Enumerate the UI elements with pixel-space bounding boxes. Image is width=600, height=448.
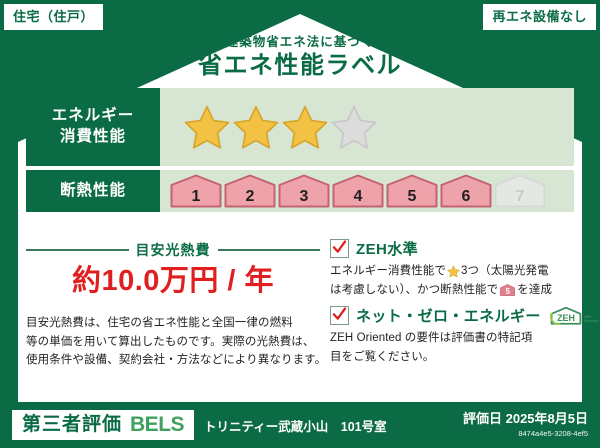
evaluation-date: 評価日 2025年8月5日 — [463, 412, 588, 426]
insulation-badge-number: 5 — [500, 288, 515, 296]
check-body-line1-text2: 3つ（太陽光発電 — [461, 262, 549, 281]
star-icon-empty — [331, 104, 377, 150]
insulation-level-6: 6 — [440, 174, 492, 208]
zeh-house-icon: ZEH — [549, 306, 583, 326]
energy-label-line1: エネルギー — [52, 106, 135, 127]
zeh-logo: ZEH ZEH Oriented — [549, 306, 599, 326]
utility-cost-value: 約10.0万円 / 年 — [26, 266, 320, 298]
utility-cost-section: 目安光熱費 約10.0万円 / 年 目安光熱費は、住宅の省エネ性能と全国一律の燃… — [26, 238, 326, 396]
energy-performance-label: エネルギー 消費性能 — [26, 88, 160, 166]
lower-content: 目安光熱費 約10.0万円 / 年 目安光熱費は、住宅の省エネ性能と全国一律の燃… — [26, 238, 574, 396]
checkbox-net-zero-energy[interactable] — [330, 306, 349, 325]
svg-text:ZEH: ZEH — [557, 313, 575, 323]
check-body-line1: エネルギー消費性能で 3つ（太陽光発電 — [330, 262, 599, 281]
check-icon — [332, 240, 347, 255]
insulation-level-number: 2 — [224, 189, 276, 205]
energy-label-line2: 消費性能 — [60, 127, 126, 148]
utility-cost-note-line-2: 等の単価を用いて算出したものです。実際の光熱費は、 — [26, 333, 320, 352]
check-item-net-zero-energy: ネット・ゼロ・エネルギー ZEH ZEH Oriented ZEH Ori — [330, 305, 599, 366]
energy-performance-value — [160, 88, 574, 166]
insulation-performance-value: 1234567 — [160, 170, 574, 212]
insulation-level-number: 3 — [278, 189, 330, 205]
check-head-zeh-standard: ZEH水準 — [330, 238, 599, 259]
insulation-level-5: 5 — [386, 174, 438, 208]
performance-section: エネルギー 消費性能 断熱性能 1234567 — [26, 88, 574, 212]
check-title-net-zero-energy: ネット・ゼロ・エネルギー — [356, 305, 541, 326]
evaluation-info: 評価日 2025年8月5日 8474a4e5-3208-4ef5 — [463, 412, 588, 437]
insulation-level-4: 4 — [332, 174, 384, 208]
building-name: トリニティー武蔵小山 101号室 — [204, 416, 387, 435]
utility-cost-title: 目安光熱費 — [136, 240, 211, 260]
energy-performance-label: 住宅（住戸） 再エネ設備なし 建築物省エネ法に基づく 省エネ性能ラベル エネルギ… — [0, 0, 600, 448]
insulation-level-number: 7 — [494, 189, 546, 205]
insulation-level-number: 4 — [332, 189, 384, 205]
insulation-performance-label: 断熱性能 — [26, 170, 160, 212]
bels-logo: 第三者評価 BELS — [12, 410, 194, 440]
insulation-level-number: 5 — [386, 189, 438, 205]
insulation-level-3: 3 — [278, 174, 330, 208]
check-body-line1-text1: エネルギー消費性能で — [330, 262, 446, 281]
rule-left — [26, 249, 129, 251]
check-body-net-zero-energy: ZEH Oriented の要件は評価書の特記項目をご覧ください。 — [330, 329, 599, 366]
insulation-level-7: 7 — [494, 174, 546, 208]
bels-japanese-label: 第三者評価 — [22, 415, 122, 434]
checkbox-zeh-standard[interactable] — [330, 239, 349, 258]
badge-dwelling-type: 住宅（住戸） — [4, 4, 103, 30]
badge-renewable-equipment: 再エネ設備なし — [483, 4, 596, 30]
insulation-level-number: 6 — [440, 189, 492, 205]
star-icon — [447, 265, 460, 278]
footer-bar: 第三者評価 BELS トリニティー武蔵小山 101号室 評価日 2025年8月5… — [0, 402, 600, 448]
insulation-level-scale: 1234567 — [160, 174, 546, 208]
utility-cost-note-line-1: 目安光熱費は、住宅の省エネ性能と全国一律の燃料 — [26, 314, 320, 333]
zeh-checks-section: ZEH水準 エネルギー消費性能で 3つ（太陽光発電 は考慮しない）、かつ断熱性能… — [326, 238, 599, 396]
utility-cost-note-line-3: 使用条件や設備、契約会社・方法などにより異なります。 — [26, 351, 320, 370]
star-icon-filled — [282, 104, 328, 150]
row-energy-performance: エネルギー 消費性能 — [26, 88, 574, 166]
check-body-net-zero-line-1: ZEH Oriented の要件は評価書の特記項 — [330, 329, 599, 348]
check-body-line2-text1: は考慮しない）、かつ断熱性能で — [330, 281, 498, 300]
insulation-badge-icon: 5 — [500, 284, 515, 296]
zeh-sub-line2: Oriented — [584, 319, 599, 323]
insulation-level-number: 1 — [170, 189, 222, 205]
check-body-zeh-standard: エネルギー消費性能で 3つ（太陽光発電 は考慮しない）、かつ断熱性能で 5 — [330, 262, 599, 299]
zeh-logo-subtext: ZEH Oriented — [584, 316, 599, 324]
insulation-label-line1: 断熱性能 — [60, 181, 126, 202]
utility-cost-header: 目安光熱費 — [26, 240, 320, 260]
star-rating — [160, 104, 377, 150]
check-icon — [332, 307, 347, 322]
check-item-zeh-standard: ZEH水準 エネルギー消費性能で 3つ（太陽光発電 は考慮しない）、かつ断熱性能… — [330, 238, 599, 299]
utility-cost-note: 目安光熱費は、住宅の省エネ性能と全国一律の燃料等の単価を用いて算出したものです。… — [26, 314, 320, 370]
star-icon-filled — [184, 104, 230, 150]
check-body-line2-text2: を達成 — [517, 281, 552, 300]
insulation-level-1: 1 — [170, 174, 222, 208]
check-body-line2: は考慮しない）、かつ断熱性能で 5 を達成 — [330, 281, 599, 300]
check-title-zeh-standard: ZEH水準 — [356, 238, 418, 259]
row-insulation-performance: 断熱性能 1234567 — [26, 170, 574, 212]
bels-english-label: BELS — [130, 414, 184, 435]
rule-right — [218, 249, 321, 251]
check-body-net-zero-line-2: 目をご覧ください。 — [330, 348, 599, 367]
evaluation-id: 8474a4e5-3208-4ef5 — [463, 429, 588, 438]
star-icon-filled — [233, 104, 279, 150]
insulation-level-2: 2 — [224, 174, 276, 208]
check-head-net-zero-energy: ネット・ゼロ・エネルギー ZEH ZEH Oriented — [330, 305, 599, 326]
